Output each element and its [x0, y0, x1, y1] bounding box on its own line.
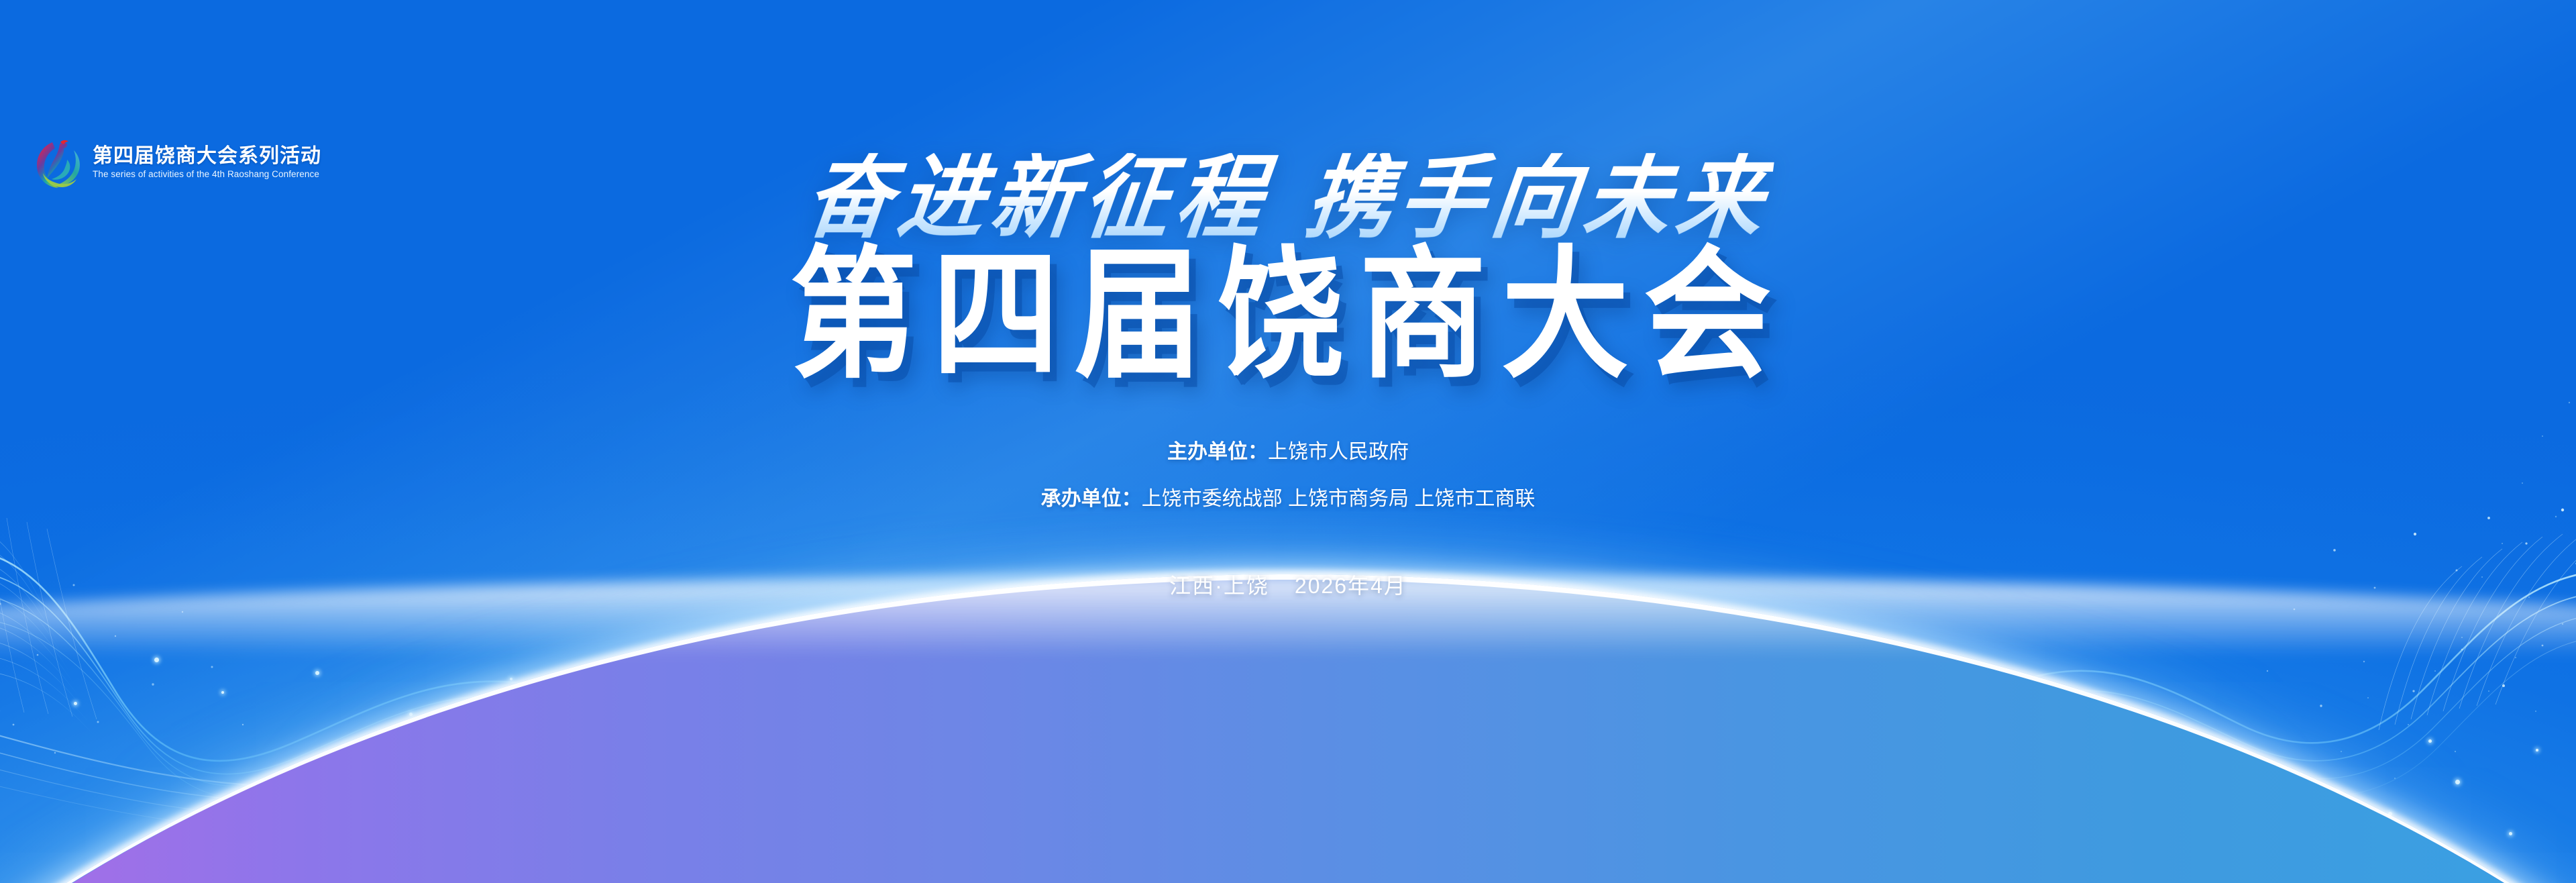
host-value-coorganizer: 上饶市委统战部 上饶市商务局 上饶市工商联 [1142, 488, 1536, 510]
venue-and-date: 江西·上饶2026年4月 [1169, 569, 1407, 600]
host-label-coorganizer: 承办单位： [1041, 488, 1142, 510]
banner-content: 奋进新征程携手向未来 第四届饶商大会 主办单位：上饶市人民政府 承办单位：上饶市… [0, 0, 2576, 600]
page-title: 第四届饶商大会 [790, 245, 1786, 387]
host-line-coorganizer: 承办单位：上饶市委统战部 上饶市商务局 上饶市工商联 [1041, 487, 1536, 511]
conference-banner: 第四届饶商大会系列活动 The series of activities of … [0, 0, 2576, 883]
host-line-organizer: 主办单位：上饶市人民政府 [1167, 440, 1409, 464]
venue-place: 江西·上饶 [1169, 574, 1269, 598]
event-slogan: 奋进新征程携手向未来 [801, 153, 1776, 244]
slogan-part-1: 奋进新征程 [800, 148, 1275, 250]
host-organizations: 主办单位：上饶市人民政府 承办单位：上饶市委统战部 上饶市商务局 上饶市工商联 [1041, 440, 1536, 511]
host-value-organizer: 上饶市人民政府 [1268, 441, 1409, 463]
venue-date: 2026年4月 [1295, 574, 1407, 598]
host-label-organizer: 主办单位： [1167, 441, 1268, 463]
slogan-part-2: 携手向未来 [1301, 148, 1776, 250]
glowing-arc-decoration [0, 574, 2576, 883]
